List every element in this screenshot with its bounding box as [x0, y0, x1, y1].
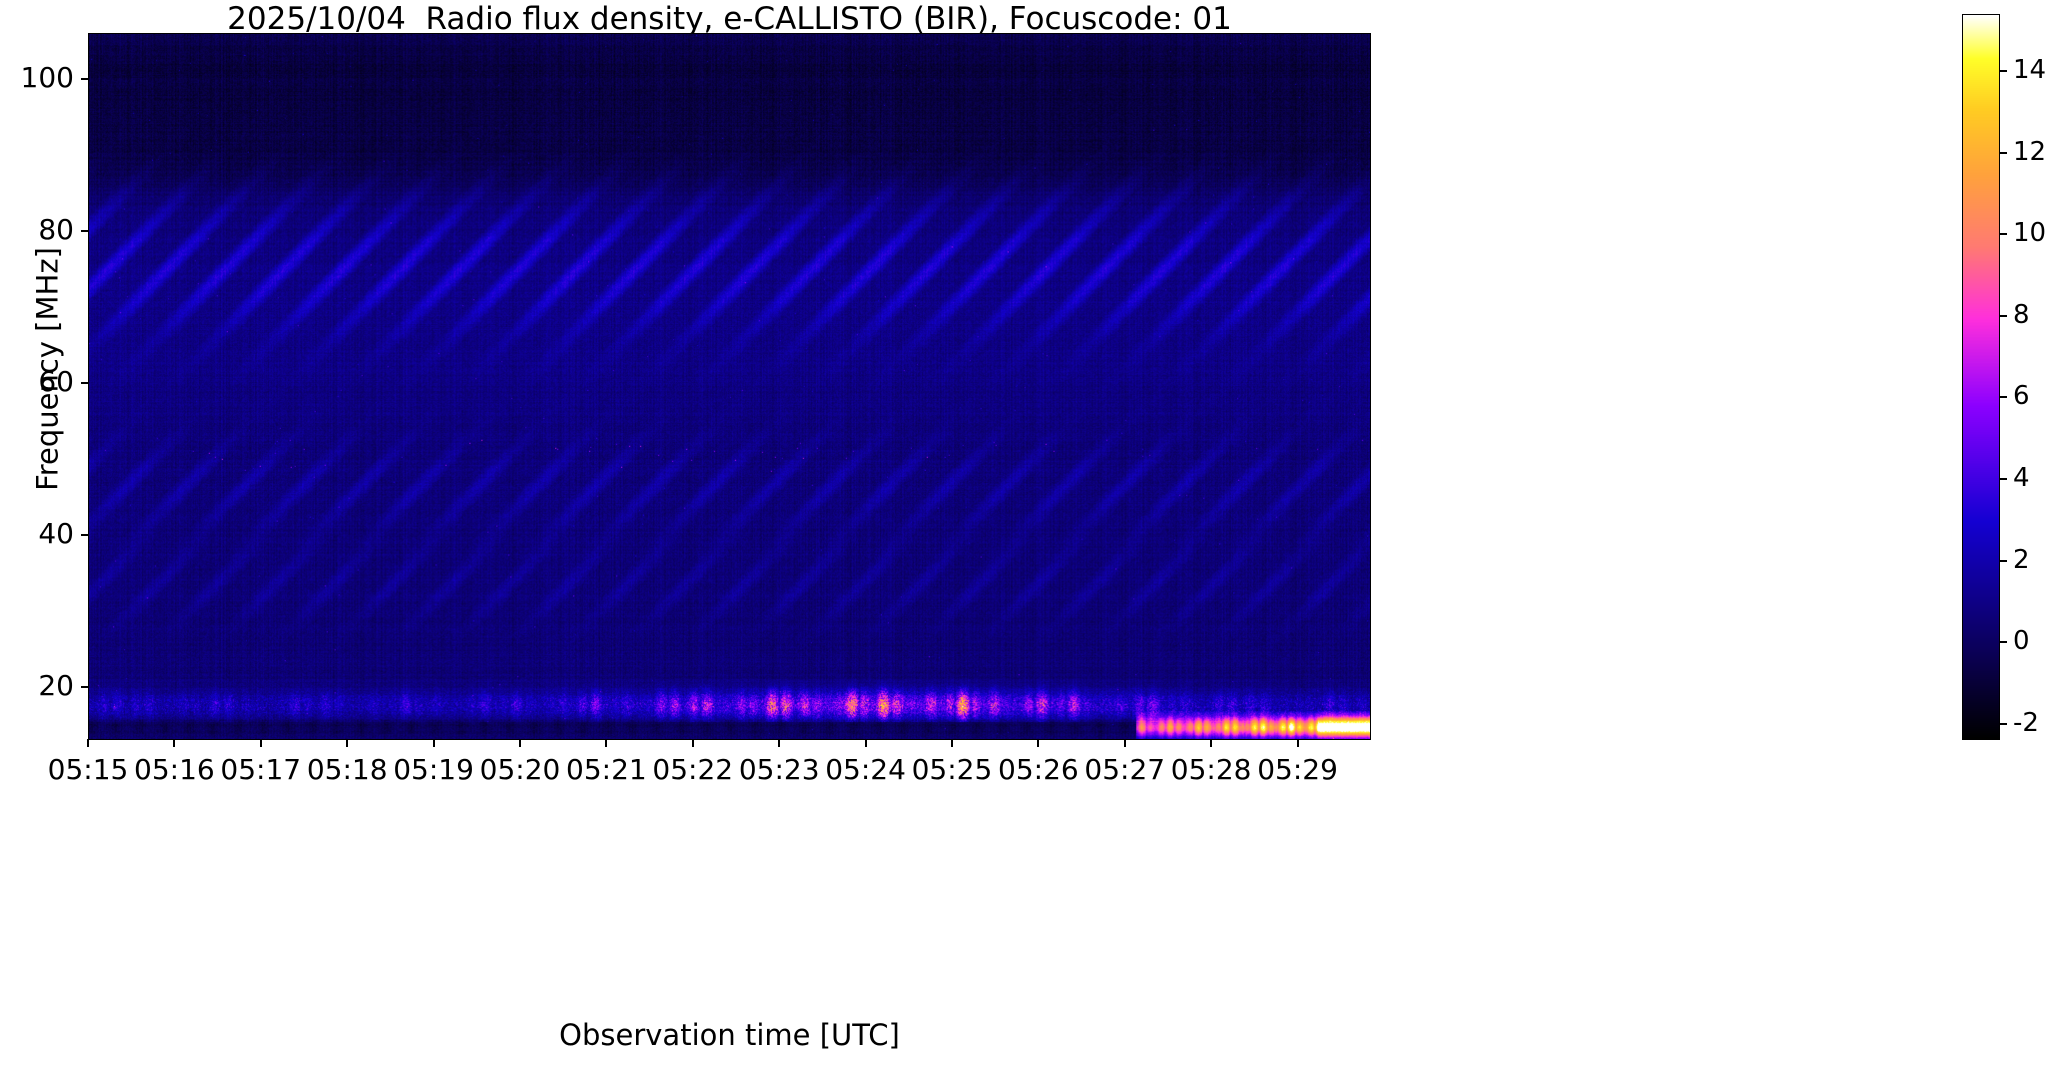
colorbar-tick-mark	[2000, 70, 2007, 72]
y-tick-label: 60	[38, 366, 74, 398]
x-tick-label: 05:29	[1257, 754, 1338, 786]
colorbar-tick-mark	[2000, 396, 2007, 398]
x-tick-label: 05:21	[566, 754, 647, 786]
chart-title: 2025/10/04 Radio flux density, e-CALLIST…	[88, 2, 1371, 36]
x-tick-mark	[1124, 739, 1126, 747]
x-tick-mark	[519, 739, 521, 747]
y-tick-label: 20	[38, 670, 74, 702]
x-tick-label: 05:26	[998, 754, 1079, 786]
x-tick-label: 05:27	[1084, 754, 1165, 786]
x-tick-label: 05:28	[1171, 754, 1252, 786]
x-tick-label: 05:15	[48, 754, 129, 786]
x-tick-mark	[346, 739, 348, 747]
y-tick-label: 80	[38, 214, 74, 246]
colorbar-tick-label: 14	[2013, 55, 2046, 85]
x-tick-label: 05:17	[220, 754, 301, 786]
x-tick-mark	[605, 739, 607, 747]
spectrogram-image	[89, 34, 1370, 739]
colorbar-tick-mark	[2000, 641, 2007, 643]
colorbar-tick-label: 2	[2013, 545, 2030, 575]
colorbar-tick-label: -2	[2013, 708, 2039, 738]
colorbar-tick-mark	[2000, 152, 2007, 154]
colorbar-tick-label: 0	[2013, 626, 2030, 656]
x-tick-mark	[1037, 739, 1039, 747]
x-tick-label: 05:23	[739, 754, 820, 786]
colorbar-tick-label: 6	[2013, 381, 2030, 411]
y-tick-label: 40	[38, 518, 74, 550]
x-tick-label: 05:22	[652, 754, 733, 786]
x-tick-mark	[951, 739, 953, 747]
colorbar-tick-mark	[2000, 315, 2007, 317]
colorbar-tick-label: 8	[2013, 300, 2030, 330]
colorbar-tick-label: 12	[2013, 137, 2046, 167]
x-tick-mark	[1297, 739, 1299, 747]
x-tick-mark	[173, 739, 175, 747]
y-tick-mark	[81, 534, 88, 536]
colorbar-tick-mark	[2000, 723, 2007, 725]
colorbar-tick-mark	[2000, 233, 2007, 235]
x-tick-label: 05:25	[912, 754, 993, 786]
y-tick-mark	[81, 686, 88, 688]
x-tick-label: 05:18	[307, 754, 388, 786]
x-tick-mark	[87, 739, 89, 747]
x-tick-mark	[865, 739, 867, 747]
figure-canvas: 2025/10/04 Radio flux density, e-CALLIST…	[0, 0, 2066, 1067]
colorbar-tick-mark	[2000, 478, 2007, 480]
y-tick-label: 100	[21, 62, 74, 94]
x-tick-mark	[260, 739, 262, 747]
x-tick-label: 05:19	[393, 754, 474, 786]
colorbar-tick-label: 4	[2013, 463, 2030, 493]
x-tick-label: 05:16	[134, 754, 215, 786]
x-axis-label: Observation time [UTC]	[88, 1018, 1371, 1052]
x-tick-label: 05:24	[825, 754, 906, 786]
y-tick-mark	[81, 382, 88, 384]
colorbar-gradient	[1963, 15, 1999, 739]
colorbar-tick-mark	[2000, 560, 2007, 562]
y-tick-mark	[81, 230, 88, 232]
x-tick-label: 05:20	[480, 754, 561, 786]
y-tick-mark	[81, 78, 88, 80]
spectrogram-axes[interactable]	[88, 33, 1371, 740]
x-tick-mark	[433, 739, 435, 747]
x-tick-mark	[778, 739, 780, 747]
colorbar-axes[interactable]	[1962, 14, 2000, 740]
x-tick-mark	[1210, 739, 1212, 747]
x-tick-mark	[692, 739, 694, 747]
colorbar-tick-label: 10	[2013, 218, 2046, 248]
